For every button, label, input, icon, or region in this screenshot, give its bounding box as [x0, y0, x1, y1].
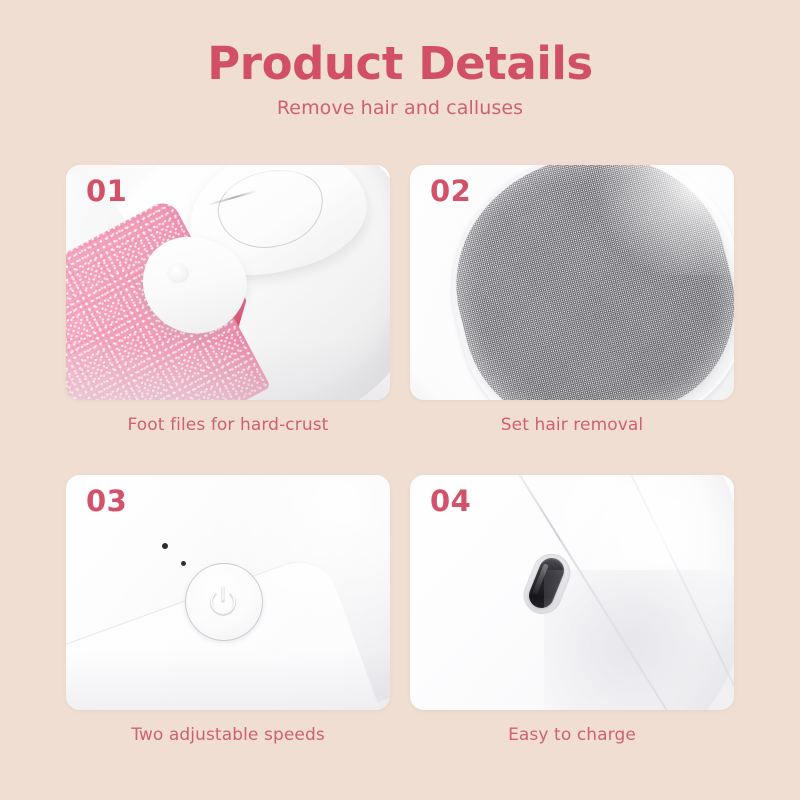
- page-subtitle: Remove hair and calluses: [0, 97, 800, 119]
- feature-cell-04: 04 Easy to charge: [410, 475, 734, 710]
- feature-cell-01: 01 Foot files for hard-crust: [66, 165, 390, 400]
- card-03-bottom-shade: [66, 650, 390, 710]
- header: Product Details Remove hair and calluses: [0, 40, 800, 119]
- roller-guard-dot: [167, 263, 189, 283]
- card-number-badge-03: 03: [86, 487, 127, 516]
- card-number-badge-04: 04: [430, 487, 471, 516]
- feature-card-01[interactable]: 01: [66, 165, 390, 400]
- card-01-bottom-shade: [66, 340, 390, 400]
- card-04-shade: [544, 570, 734, 710]
- product-details-infographic: Product Details Remove hair and calluses…: [0, 0, 800, 800]
- feature-card-03[interactable]: 03: [66, 475, 390, 710]
- card-caption-02: Set hair removal: [410, 415, 734, 435]
- card-caption-03: Two adjustable speeds: [66, 725, 390, 745]
- feature-cell-02: 02 Set hair removal: [410, 165, 734, 400]
- card-number-badge-01: 01: [86, 177, 127, 206]
- speed-indicator-led-2: [181, 561, 186, 566]
- feature-card-02[interactable]: 02: [410, 165, 734, 400]
- card-number-badge-02: 02: [430, 177, 471, 206]
- feature-card-grid: 01 Foot files for hard-crust 02 Set hair…: [66, 165, 734, 755]
- speed-indicator-led-1: [162, 543, 168, 549]
- page-title: Product Details: [0, 40, 800, 87]
- feature-card-04[interactable]: 04: [410, 475, 734, 710]
- card-caption-01: Foot files for hard-crust: [66, 415, 390, 435]
- card-02-highlight: [584, 165, 734, 275]
- power-icon: [204, 583, 242, 621]
- feature-cell-03: 03 Two adjustable speeds: [66, 475, 390, 710]
- card-caption-04: Easy to charge: [410, 725, 734, 745]
